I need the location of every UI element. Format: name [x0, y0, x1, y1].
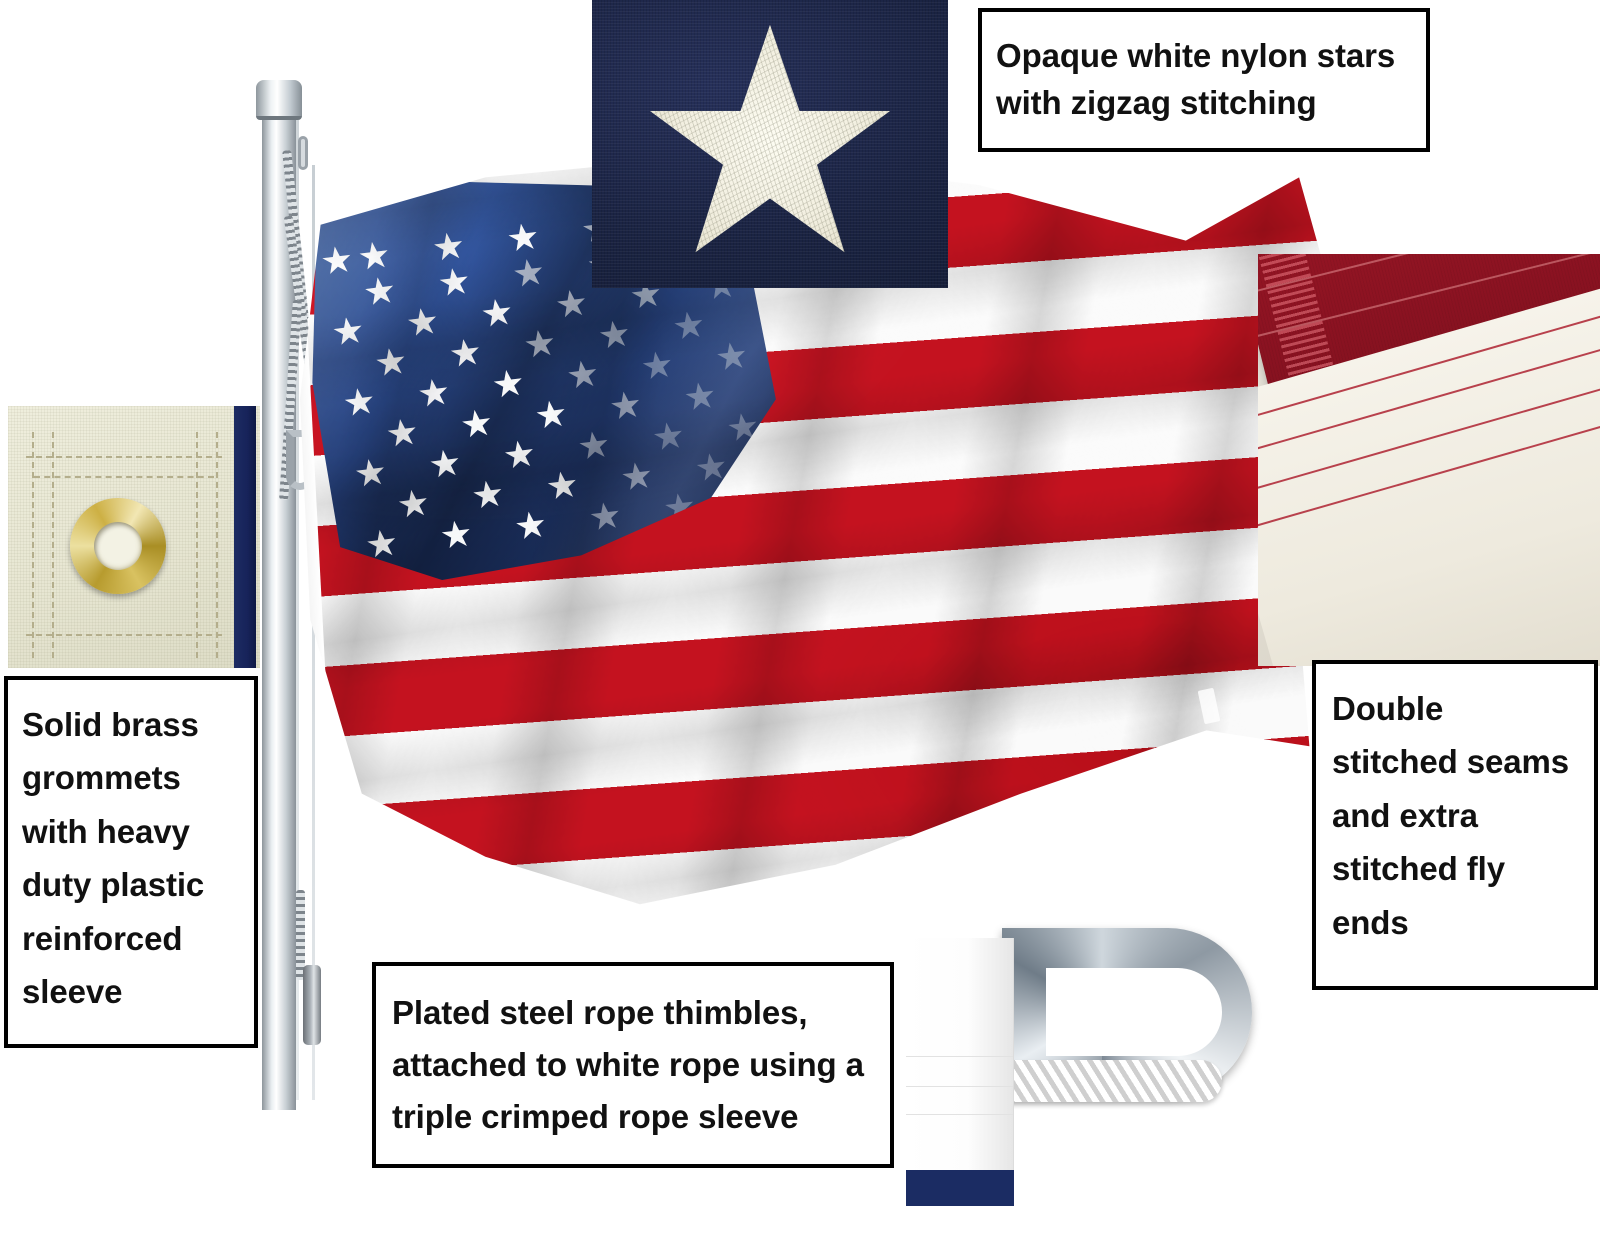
- callout-grommets-text: Solid brass grommets with heavy duty pla…: [22, 692, 240, 1019]
- stitch-line-right-2: [216, 432, 218, 658]
- stitch-line-bottom: [26, 634, 222, 636]
- flagpole-cleat: [303, 965, 321, 1045]
- callout-plated-steel-rope-thimbles: Plated steel rope thimbles, attached to …: [372, 962, 894, 1168]
- stitch-line-left-2: [52, 432, 54, 658]
- callout-thimble-text: Plated steel rope thimbles, attached to …: [392, 987, 874, 1143]
- flagpole-cap: [256, 80, 302, 120]
- sleeve-crimp-2: [906, 1086, 1013, 1087]
- white-flag-sleeve: [906, 938, 1014, 1170]
- braided-white-rope: [1002, 1060, 1222, 1102]
- stitch-line-right: [196, 432, 198, 658]
- embroidered-star-closeup: [592, 0, 948, 288]
- double-stitched-seam-closeup: [1258, 254, 1600, 666]
- callout-double-stitched-seams: Double stitched seams and extra stitched…: [1312, 660, 1598, 990]
- stitch-line-top-2: [34, 476, 214, 478]
- flag-navy-edge: [234, 406, 256, 668]
- callout-opaque-white-nylon-stars: Opaque white nylon stars with zigzag sti…: [978, 8, 1430, 152]
- stitch-line-top: [26, 456, 222, 458]
- callout-stars-text: Opaque white nylon stars with zigzag sti…: [996, 33, 1412, 127]
- rope-thimble-closeup: [892, 920, 1272, 1236]
- snap-hook-icon: [298, 136, 308, 170]
- sleeve-crimp-1: [906, 1056, 1013, 1057]
- sleeve-crimp-3: [906, 1114, 1013, 1115]
- callout-seams-text: Double stitched seams and extra stitched…: [1332, 676, 1578, 949]
- brass-grommet-ring-icon: [70, 498, 166, 594]
- brass-grommet-closeup: [8, 406, 260, 668]
- fly-end-stitch-4: [1258, 388, 1600, 533]
- callout-solid-brass-grommets: Solid brass grommets with heavy duty pla…: [4, 676, 258, 1048]
- infographic-canvas: Opaque white nylon stars with zigzag sti…: [0, 0, 1600, 1236]
- stitch-line-left: [32, 432, 34, 658]
- flag-navy-edge-bottom: [906, 1170, 1014, 1206]
